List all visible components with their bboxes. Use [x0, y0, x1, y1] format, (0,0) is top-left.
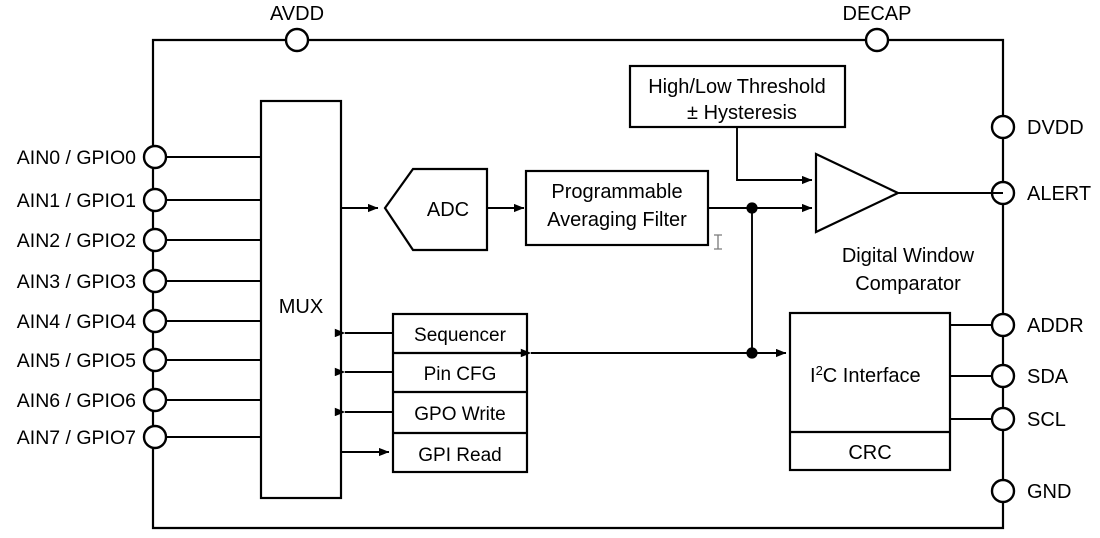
threshold-label-line1: High/Low Threshold [648, 76, 826, 98]
pin-label-sda: SDA [1027, 366, 1069, 388]
pin-label-alert: ALERT [1027, 183, 1091, 205]
control-stack-mux-links [341, 333, 393, 452]
pin-circle-avdd[interactable] [286, 29, 308, 51]
pin-label-decap: DECAP [843, 3, 912, 25]
threshold-label-line2: ± Hysteresis [687, 102, 797, 124]
pin-label-ain7: AIN7 / GPIO7 [17, 427, 136, 449]
pin-label-ain3: AIN3 / GPIO3 [17, 271, 136, 293]
pin-label-addr: ADDR [1027, 315, 1084, 337]
comparator-caption-line1: Digital Window [842, 245, 975, 267]
pin-label-ain6: AIN6 / GPIO6 [17, 390, 136, 412]
pin-label-scl: SCL [1027, 409, 1066, 431]
filter-label-line1: Programmable [551, 181, 682, 203]
digital-window-comparator-block [816, 154, 1003, 232]
pin-circle-dvdd[interactable] [992, 116, 1014, 138]
pin-circle-decap[interactable] [866, 29, 888, 51]
pin-circle-ain1[interactable] [144, 189, 166, 211]
left-pin-leads [144, 146, 261, 448]
text-cursor-artifact [714, 235, 722, 249]
pin-circle-ain2[interactable] [144, 229, 166, 251]
pin-label-dvdd: DVDD [1027, 117, 1084, 139]
crc-label: CRC [848, 442, 891, 464]
pin-label-ain1: AIN1 / GPIO1 [17, 190, 136, 212]
pin-circle-ain6[interactable] [144, 389, 166, 411]
pin-circle-ain4[interactable] [144, 310, 166, 332]
pin-label-ain2: AIN2 / GPIO2 [17, 230, 136, 252]
filter-label-line2: Averaging Filter [547, 209, 687, 231]
i2c-label-suffix: C Interface [823, 365, 921, 387]
pin-circle-ain5[interactable] [144, 349, 166, 371]
pin-label-ain4: AIN4 / GPIO4 [17, 311, 136, 333]
pin-circle-gnd[interactable] [992, 480, 1014, 502]
diagram-svg: AVDD DECAP AIN0 / GPIO0 AIN1 / GPIO1 AIN… [0, 0, 1100, 538]
control-stack-label-pin-cfg: Pin CFG [424, 364, 497, 385]
junction-dot-i2c-bus [746, 347, 757, 358]
junction-dot-filter-out [746, 202, 757, 213]
pin-circle-sda[interactable] [992, 365, 1014, 387]
i2c-label-superscript: 2 [816, 363, 823, 378]
pin-circle-scl[interactable] [992, 408, 1014, 430]
pin-circle-ain7[interactable] [144, 426, 166, 448]
adc-label: ADC [427, 199, 469, 221]
control-stack-label-gpi-read: GPI Read [418, 445, 501, 466]
pin-label-gnd: GND [1027, 481, 1071, 503]
pin-label-ain0: AIN0 / GPIO0 [17, 147, 136, 169]
control-i2c-bus [531, 347, 786, 358]
pin-label-avdd: AVDD [270, 3, 324, 25]
mux-label: MUX [279, 296, 323, 318]
pin-circle-ain3[interactable] [144, 270, 166, 292]
control-stack-label-sequencer: Sequencer [414, 325, 507, 346]
pin-circle-addr[interactable] [992, 314, 1014, 336]
block-diagram-canvas: AVDD DECAP AIN0 / GPIO0 AIN1 / GPIO1 AIN… [0, 0, 1100, 538]
pin-label-ain5: AIN5 / GPIO5 [17, 350, 136, 372]
i2c-label: I2C Interface [810, 363, 921, 387]
pin-circle-ain0[interactable] [144, 146, 166, 168]
control-stack-label-gpo-write: GPO Write [414, 404, 506, 425]
comparator-caption-line2: Comparator [855, 273, 961, 295]
